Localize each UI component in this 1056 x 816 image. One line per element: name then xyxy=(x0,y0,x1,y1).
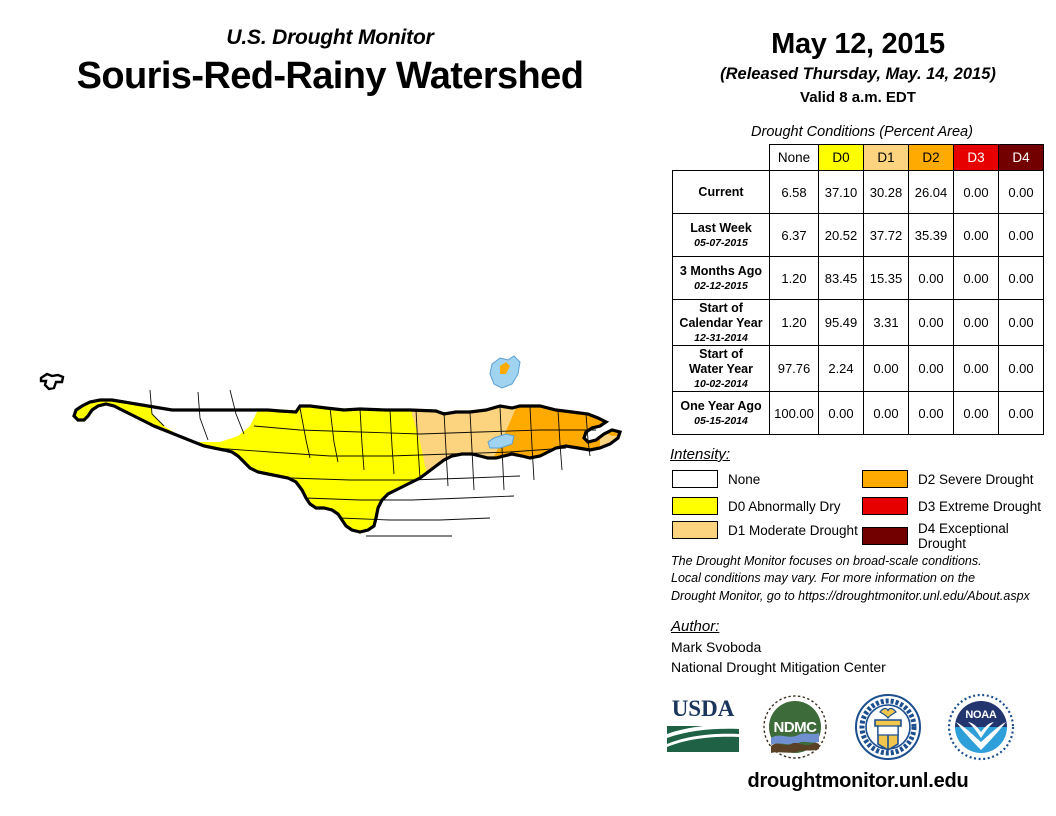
cell-current-d1: 30.28 xyxy=(864,171,909,214)
legend-item-none: None xyxy=(672,470,760,488)
ndmc-logo-text: NDMC xyxy=(774,719,818,736)
site-url[interactable]: droughtmonitor.unl.edu xyxy=(660,770,1056,793)
swatch-d4-icon xyxy=(862,527,908,545)
watershed-map xyxy=(0,330,660,600)
program-title: U.S. Drought Monitor xyxy=(0,26,660,50)
row-label-3-months-ago: 3 Months Ago 02-12-2015 xyxy=(673,257,770,300)
valid-time: Valid 8 a.m. EDT xyxy=(660,89,1056,106)
usda-logo: USDA xyxy=(665,692,741,754)
column-header-d1: D1 xyxy=(864,145,909,171)
cell-lastweek-d1: 37.72 xyxy=(864,214,909,257)
fill-d1-south-band xyxy=(438,470,472,544)
row-label-date: 02-12-2015 xyxy=(673,280,769,292)
table-header-row: None D0 D1 D2 D3 D4 xyxy=(673,145,1044,171)
legend-label-d0: D0 Abnormally Dry xyxy=(728,499,841,514)
disclaimer-line-1: The Drought Monitor focuses on broad-sca… xyxy=(671,553,1051,570)
cell-wateryear-d3: 0.00 xyxy=(954,346,999,392)
row-label-one-year-ago: One Year Ago 05-15-2014 xyxy=(673,392,770,435)
row-label-start-water-year: Start of Water Year 10-02-2014 xyxy=(673,346,770,392)
usdoc-seal-icon xyxy=(853,692,923,762)
ndmc-logo: NDMC xyxy=(760,692,830,762)
row-label-date: 12-31-2014 xyxy=(673,332,769,344)
cell-wateryear-d2: 0.00 xyxy=(909,346,954,392)
legend-item-d4: D4 Exceptional Drought xyxy=(862,521,1056,551)
cell-lastweek-d0: 20.52 xyxy=(819,214,864,257)
row-label-text: 3 Months Ago xyxy=(680,264,762,278)
fill-d0-base xyxy=(0,330,660,600)
cell-lastweek-d3: 0.00 xyxy=(954,214,999,257)
table-row: Last Week 05-07-2015 6.37 20.52 37.72 35… xyxy=(673,214,1044,257)
usda-logo-text: USDA xyxy=(672,696,735,721)
cell-oneyear-d2: 0.00 xyxy=(909,392,954,435)
legend-label-d4: D4 Exceptional Drought xyxy=(918,521,1056,551)
cell-wateryear-d1: 0.00 xyxy=(864,346,909,392)
cell-oneyear-d1: 0.00 xyxy=(864,392,909,435)
cell-calyear-none: 1.20 xyxy=(770,300,819,346)
swatch-d1-icon xyxy=(672,521,718,539)
legend-item-d2: D2 Severe Drought xyxy=(862,470,1034,488)
fill-d2-south-band xyxy=(470,470,520,544)
swatch-d2-icon xyxy=(862,470,908,488)
swatch-none-icon xyxy=(672,470,718,488)
table-corner-cell xyxy=(673,145,770,171)
row-label-text: Current xyxy=(698,185,743,199)
cell-wateryear-d4: 0.00 xyxy=(999,346,1044,392)
column-header-d0: D0 xyxy=(819,145,864,171)
legend-label-d3: D3 Extreme Drought xyxy=(918,499,1041,514)
cell-current-none: 6.58 xyxy=(770,171,819,214)
cell-calyear-d3: 0.00 xyxy=(954,300,999,346)
drought-conditions-table: None D0 D1 D2 D3 D4 Current 6.58 37.10 3… xyxy=(672,144,1044,435)
page-title: Souris-Red-Rainy Watershed xyxy=(0,55,660,98)
cell-lastweek-none: 6.37 xyxy=(770,214,819,257)
row-label-last-week: Last Week 05-07-2015 xyxy=(673,214,770,257)
map-svg xyxy=(0,330,660,600)
table-row: 3 Months Ago 02-12-2015 1.20 83.45 15.35… xyxy=(673,257,1044,300)
cell-lastweek-d2: 35.39 xyxy=(909,214,954,257)
cell-current-d0: 37.10 xyxy=(819,171,864,214)
author-name: Mark Svoboda xyxy=(671,638,886,658)
legend-label-none: None xyxy=(728,472,760,487)
column-header-d2: D2 xyxy=(909,145,954,171)
disclaimer-text: The Drought Monitor focuses on broad-sca… xyxy=(671,553,1051,605)
row-label-date: 05-15-2014 xyxy=(673,415,769,427)
cell-oneyear-d4: 0.00 xyxy=(999,392,1044,435)
row-label-text: Last Week xyxy=(690,221,752,235)
legend-label-d1: D1 Moderate Drought xyxy=(728,523,858,538)
column-header-none: None xyxy=(770,145,819,171)
cell-calyear-d4: 0.00 xyxy=(999,300,1044,346)
table-row: Start of Calendar Year 12-31-2014 1.20 9… xyxy=(673,300,1044,346)
cell-3months-d0: 83.45 xyxy=(819,257,864,300)
cell-oneyear-d3: 0.00 xyxy=(954,392,999,435)
legend-item-d0: D0 Abnormally Dry xyxy=(672,497,841,515)
release-date: (Released Thursday, May. 14, 2015) xyxy=(660,65,1056,84)
author-block: Mark Svoboda National Drought Mitigation… xyxy=(671,638,886,678)
cell-3months-d4: 0.00 xyxy=(999,257,1044,300)
cell-calyear-d2: 0.00 xyxy=(909,300,954,346)
legend-item-d3: D3 Extreme Drought xyxy=(862,497,1041,515)
disclaimer-line-2: Local conditions may vary. For more info… xyxy=(671,570,1051,587)
legend-label-d2: D2 Severe Drought xyxy=(918,472,1034,487)
cell-calyear-d0: 95.49 xyxy=(819,300,864,346)
fill-d2-east-block xyxy=(520,400,600,530)
row-label-date: 05-07-2015 xyxy=(673,237,769,249)
legend-item-d1: D1 Moderate Drought xyxy=(672,521,858,539)
cell-oneyear-d0: 0.00 xyxy=(819,392,864,435)
intensity-legend-title: Intensity: xyxy=(670,446,730,463)
cell-oneyear-none: 100.00 xyxy=(770,392,819,435)
row-label-text: One Year Ago xyxy=(680,399,761,413)
noaa-logo: NOAA xyxy=(946,692,1016,762)
row-label-text-line2: Water Year xyxy=(689,362,753,376)
cell-3months-d2: 0.00 xyxy=(909,257,954,300)
cell-3months-none: 1.20 xyxy=(770,257,819,300)
swatch-d3-icon xyxy=(862,497,908,515)
cell-lastweek-d4: 0.00 xyxy=(999,214,1044,257)
noaa-logo-text: NOAA xyxy=(965,709,997,721)
title-block: U.S. Drought Monitor Souris-Red-Rainy Wa… xyxy=(0,26,660,98)
map-fill-layer xyxy=(0,330,660,600)
row-label-text-line1: Start of xyxy=(699,301,743,315)
cell-3months-d3: 0.00 xyxy=(954,257,999,300)
date-block: May 12, 2015 (Released Thursday, May. 14… xyxy=(660,28,1056,106)
table-row: Start of Water Year 10-02-2014 97.76 2.2… xyxy=(673,346,1044,392)
table-caption: Drought Conditions (Percent Area) xyxy=(672,124,1052,140)
cell-wateryear-none: 97.76 xyxy=(770,346,819,392)
row-label-text-line2: Calendar Year xyxy=(679,316,762,330)
swatch-d0-icon xyxy=(672,497,718,515)
map-sliver-icon xyxy=(38,370,66,394)
row-label-date: 10-02-2014 xyxy=(673,378,769,390)
cell-3months-d1: 15.35 xyxy=(864,257,909,300)
cell-current-d3: 0.00 xyxy=(954,171,999,214)
column-header-d4: D4 xyxy=(999,145,1044,171)
row-label-start-calendar-year: Start of Calendar Year 12-31-2014 xyxy=(673,300,770,346)
cell-current-d4: 0.00 xyxy=(999,171,1044,214)
table-row: One Year Ago 05-15-2014 100.00 0.00 0.00… xyxy=(673,392,1044,435)
author-heading: Author: xyxy=(671,618,719,635)
author-organization: National Drought Mitigation Center xyxy=(671,658,886,678)
cell-wateryear-d0: 2.24 xyxy=(819,346,864,392)
row-label-current: Current xyxy=(673,171,770,214)
row-label-text-line1: Start of xyxy=(699,347,743,361)
cell-calyear-d1: 3.31 xyxy=(864,300,909,346)
cell-current-d2: 26.04 xyxy=(909,171,954,214)
disclaimer-line-3: Drought Monitor, go to https://droughtmo… xyxy=(671,588,1051,605)
column-header-d3: D3 xyxy=(954,145,999,171)
table-row: Current 6.58 37.10 30.28 26.04 0.00 0.00 xyxy=(673,171,1044,214)
logo-row: USDA NDMC NOAA xyxy=(665,692,1025,764)
map-date: May 12, 2015 xyxy=(660,28,1056,61)
